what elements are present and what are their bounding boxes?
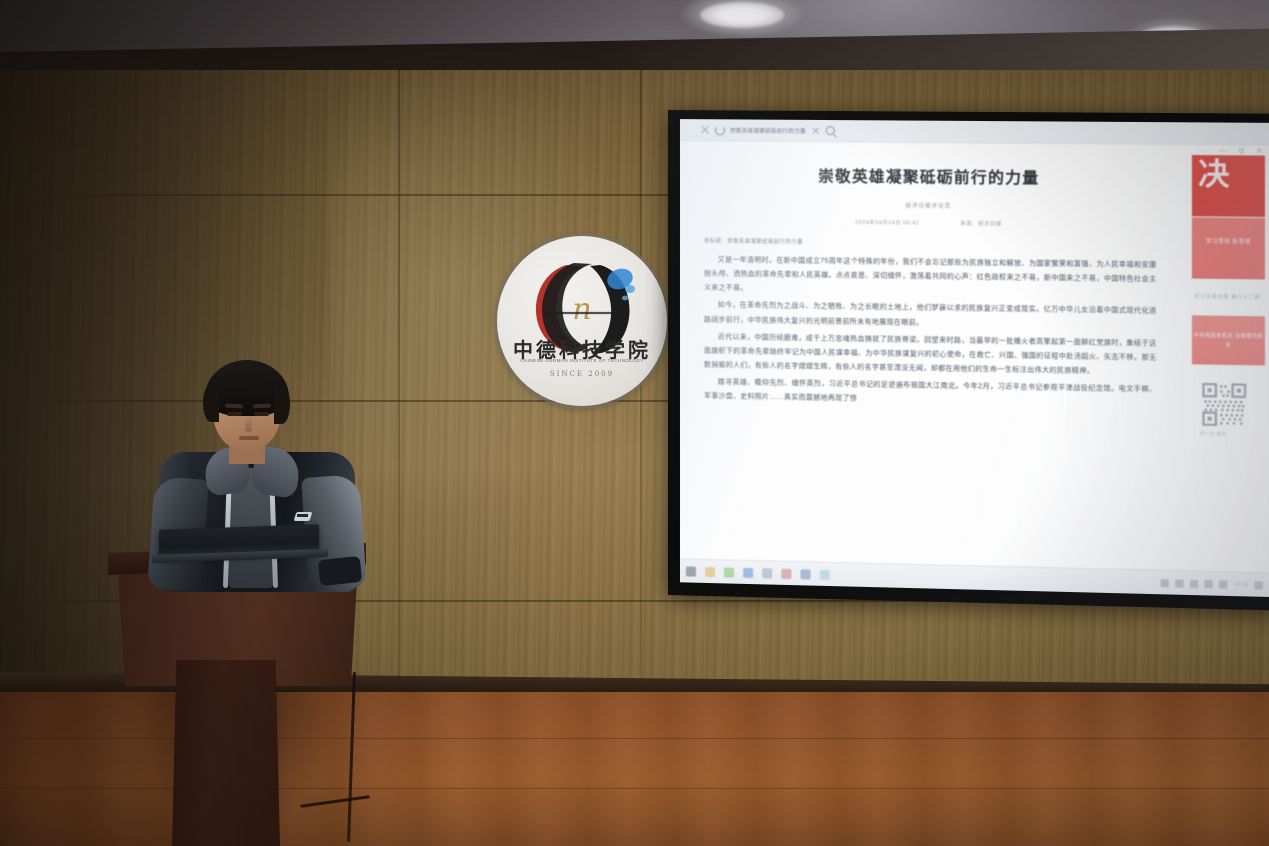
qr-code-svg: [1202, 383, 1246, 427]
browser-icon[interactable]: [724, 567, 734, 577]
start-icon[interactable]: [686, 566, 696, 576]
folder-icon[interactable]: [705, 566, 715, 576]
wall-seam-vertical: [398, 70, 400, 690]
media-icon[interactable]: [762, 568, 772, 578]
system-tray[interactable]: 20:46: [1161, 578, 1263, 589]
speaker-cuff-right: [318, 556, 362, 586]
article-meta: 2024年04月04日 06:42 来源：经济日报: [704, 217, 1157, 229]
article-source: 来源：经济日报: [960, 220, 1001, 228]
qr-caption: 扫一扫 关注: [1200, 431, 1269, 438]
arrow-up-icon[interactable]: [1161, 578, 1169, 586]
speaker-nose: [245, 416, 252, 432]
battery-icon[interactable]: [1205, 580, 1213, 588]
banner-glyph: 决: [1198, 155, 1229, 194]
browser-tab[interactable]: 崇敬英雄凝聚砥砺前行的力量: [730, 126, 806, 135]
speaker-eye: [254, 412, 269, 416]
browser-window: 崇敬英雄凝聚砥砺前行的力量 ··· — ⧉ ✕ 崇敬英雄凝聚砥砺前行的力量 经济…: [680, 119, 1269, 597]
volume-icon[interactable]: [1190, 579, 1198, 587]
logo-since: SINCE 2009: [497, 370, 667, 378]
reload-icon[interactable]: [715, 125, 725, 135]
sidebar-text: 学习文章合集 第六十二期: [1194, 293, 1269, 304]
close-icon[interactable]: [700, 125, 710, 135]
tab-close-icon[interactable]: [812, 126, 820, 134]
article-paragraph: 近代以来，中国历经磨难，成千上万忠魂热血铸就了民族脊梁。回望来时路，当最早的一批…: [704, 330, 1157, 380]
qr-code-icon[interactable]: [1202, 383, 1246, 427]
word-icon[interactable]: [800, 569, 810, 579]
editor-icon[interactable]: [743, 567, 753, 577]
speaker-hair-side: [274, 384, 290, 424]
article-original-title: 原标题：崇敬英雄凝聚砥砺前行的力量: [704, 236, 1157, 249]
article-page: 崇敬英雄凝聚砥砺前行的力量 经济日报评论员 2024年04月04日 06:42 …: [680, 141, 1269, 572]
sidebar-banner[interactable]: 决: [1192, 155, 1265, 217]
search-icon[interactable]: [826, 126, 835, 135]
back-icon[interactable]: [686, 125, 695, 134]
article-body: 崇敬英雄凝聚砥砺前行的力量 经济日报评论员 2024年04月04日 06:42 …: [680, 141, 1188, 570]
projection-screen: 崇敬英雄凝聚砥砺前行的力量 ··· — ⧉ ✕ 崇敬英雄凝聚砥砺前行的力量 经济…: [680, 119, 1269, 597]
projection-screen-frame: 崇敬英雄凝聚砥砺前行的力量 ··· — ⧉ ✕ 崇敬英雄凝聚砥砺前行的力量 经济…: [668, 110, 1269, 611]
network-icon[interactable]: [1176, 579, 1184, 587]
mail-icon[interactable]: [781, 568, 791, 578]
conference-room-photo: n 中德科技学院 CHINESE-GERMAN INSTITUTE OF TEC…: [0, 0, 1269, 846]
article-paragraph: 踏寻英雄、瞻仰先烈、缅怀英烈，习近平总书记的足迹遍布祖国大江南北。今年2月，习近…: [704, 376, 1157, 412]
article-date: 2024年04月04日 06:42: [855, 219, 919, 227]
notification-icon[interactable]: [1255, 581, 1263, 589]
ceiling-light-icon: [700, 2, 784, 28]
speaker-hair-side: [203, 384, 219, 422]
speaker-eye: [227, 412, 242, 416]
article-paragraph: 如今，在革命先烈为之战斗、为之牺牲、为之长眠的土地上，他们梦寐以求的民族复兴正变…: [704, 299, 1157, 334]
article-sidebar: 决 学习贯彻 新思想 学习文章合集 第六十二期 中央和国家机关 创建模范机关: [1188, 145, 1269, 573]
sidebar-banner-sub[interactable]: 学习贯彻 新思想: [1192, 217, 1265, 279]
article-subtitle: 经济日报评论员: [704, 199, 1157, 212]
sidebar-card[interactable]: 中央和国家机关 创建模范机关: [1192, 315, 1265, 365]
article-title: 崇敬英雄凝聚砥砺前行的力量: [704, 163, 1157, 189]
chat-icon[interactable]: [820, 569, 830, 579]
wall-logo: n 中德科技学院 CHINESE-GERMAN INSTITUTE OF TEC…: [497, 236, 667, 406]
article-paragraph: 又是一年清明时。在新中国成立75周年这个特殊的年份，我们不会忘记那些为民族独立和…: [704, 253, 1157, 302]
ime-icon[interactable]: [1220, 580, 1228, 588]
svg-text:n: n: [572, 292, 591, 327]
taskbar-clock[interactable]: 20:46: [1234, 581, 1248, 587]
speaker-mouth: [239, 436, 259, 440]
podium-column: [172, 660, 280, 846]
speaker-eyebrow: [225, 404, 243, 409]
jacket-brand-mark: [297, 514, 308, 517]
logo-name-en: CHINESE-GERMAN INSTITUTE OF TECHNOLOGY: [497, 358, 667, 363]
